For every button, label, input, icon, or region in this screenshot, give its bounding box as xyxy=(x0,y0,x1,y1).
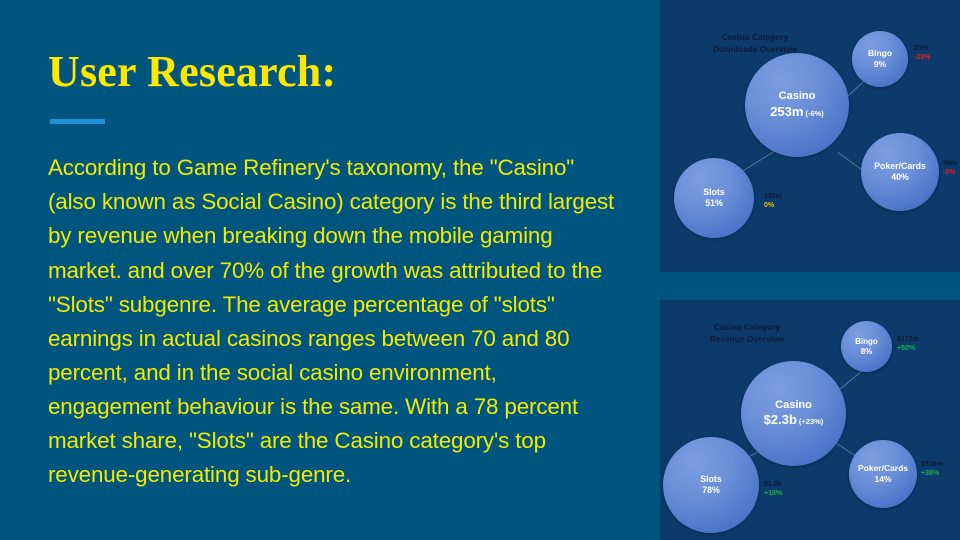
bubble-slots-downloads[interactable]: Slots 51% xyxy=(674,158,754,238)
title-accent-bar xyxy=(50,119,105,124)
text-content-column: User Research: According to Game Refiner… xyxy=(48,48,618,514)
bubble-slots-revenue-share: 78% xyxy=(702,485,720,496)
slide-canvas: User Research: According to Game Refiner… xyxy=(0,0,960,540)
label-poker-revenue-value: $316m xyxy=(921,460,943,469)
chart-title-revenue-line1: Casino Category xyxy=(714,323,781,332)
bubble-bingo-revenue-share: 8% xyxy=(861,347,873,357)
page-title: User Research: xyxy=(48,48,618,96)
bubble-casino-downloads-valuerow: 253m (-6%) xyxy=(770,104,824,120)
chart-panel-downloads: Casino Category Downloads Overview Casin… xyxy=(660,0,960,272)
bubble-slots-revenue-name: Slots xyxy=(700,474,722,485)
label-slots-revenue: $1.8b +18% xyxy=(764,480,782,499)
label-slots-revenue-delta: +18% xyxy=(764,489,782,498)
bubble-casino-downloads-delta: (-6%) xyxy=(805,109,823,118)
label-poker-downloads-delta: -8% xyxy=(943,168,957,177)
bubble-bingo-revenue[interactable]: Bingo 8% xyxy=(841,321,892,372)
label-bingo-downloads-delta: -23% xyxy=(914,53,930,62)
bubble-poker-revenue[interactable]: Poker/Cards 14% xyxy=(849,440,917,508)
bubble-slots-downloads-name: Slots xyxy=(703,187,725,198)
bubble-slots-downloads-share: 51% xyxy=(705,198,723,209)
bubble-slots-revenue[interactable]: Slots 78% xyxy=(663,437,759,533)
body-paragraph: According to Game Refinery's taxonomy, t… xyxy=(48,151,618,491)
chart-panel-revenue: Casino Category Revenue Overview Casino … xyxy=(660,300,960,540)
label-bingo-downloads: 23m -23% xyxy=(914,44,930,63)
bubble-casino-downloads[interactable]: Casino 253m (-6%) xyxy=(745,53,849,157)
bubble-poker-downloads-share: 40% xyxy=(891,172,909,183)
label-bingo-revenue-delta: +50% xyxy=(897,344,919,353)
bubble-bingo-downloads[interactable]: Bingo 9% xyxy=(852,31,908,87)
label-slots-downloads: 131m 0% xyxy=(764,192,782,211)
label-poker-revenue: $316m +38% xyxy=(921,460,943,479)
bubble-bingo-downloads-name: Bingo xyxy=(868,48,892,59)
label-slots-downloads-delta: 0% xyxy=(764,201,782,210)
bubble-poker-revenue-name: Poker/Cards xyxy=(858,463,908,474)
bubble-casino-downloads-name: Casino xyxy=(779,90,816,104)
bubble-poker-downloads[interactable]: Poker/Cards 40% xyxy=(861,133,939,211)
bubble-casino-downloads-value: 253m xyxy=(770,104,803,120)
bubble-bingo-downloads-share: 9% xyxy=(874,59,886,70)
chart-title-downloads-line1: Casino Category xyxy=(722,33,789,42)
label-poker-downloads: 99m -8% xyxy=(943,159,957,178)
bubble-bingo-revenue-name: Bingo xyxy=(855,337,878,347)
label-slots-revenue-value: $1.8b xyxy=(764,480,782,489)
label-bingo-revenue: $172m +50% xyxy=(897,335,919,354)
label-slots-downloads-value: 131m xyxy=(764,192,782,201)
chart-title-revenue: Casino Category Revenue Overview xyxy=(682,322,812,345)
bubble-casino-revenue[interactable]: Casino $2.3b (+23%) xyxy=(741,361,846,466)
bubble-casino-revenue-name: Casino xyxy=(775,399,812,413)
bubble-casino-revenue-value: $2.3b xyxy=(764,412,797,428)
label-poker-downloads-value: 99m xyxy=(943,159,957,168)
label-bingo-downloads-value: 23m xyxy=(914,44,930,53)
chart-title-downloads: Casino Category Downloads Overview xyxy=(690,32,820,55)
bubble-casino-revenue-valuerow: $2.3b (+23%) xyxy=(764,412,824,428)
bubble-casino-revenue-delta: (+23%) xyxy=(799,417,823,426)
bubble-poker-revenue-share: 14% xyxy=(874,474,891,485)
label-poker-revenue-delta: +38% xyxy=(921,469,943,478)
chart-title-revenue-line2: Revenue Overview xyxy=(682,334,812,346)
label-bingo-revenue-value: $172m xyxy=(897,335,919,344)
bubble-poker-downloads-name: Poker/Cards xyxy=(874,161,926,172)
